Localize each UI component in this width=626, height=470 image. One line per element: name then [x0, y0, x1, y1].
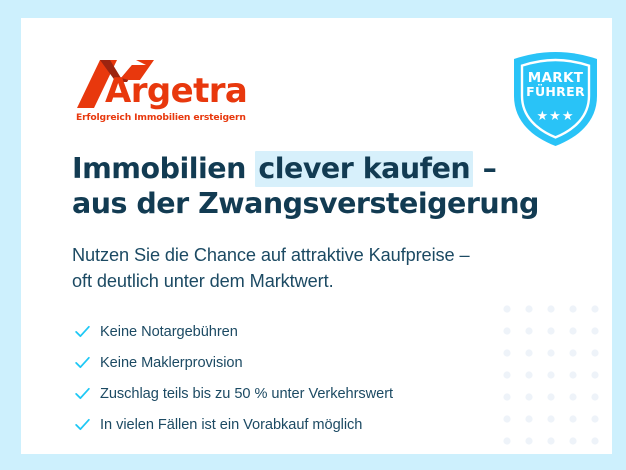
headline-highlight: clever kaufen [255, 151, 473, 187]
check-icon [74, 354, 100, 371]
list-item-label: In vielen Fällen ist ein Vorabkauf mögli… [100, 417, 362, 433]
promo-banner: Argetra Erfolgreich Immobilien ersteiger… [0, 0, 626, 470]
headline-line-1: Immobilien clever kaufen – [72, 151, 592, 186]
banner-card: Argetra Erfolgreich Immobilien ersteiger… [21, 18, 612, 454]
headline-text-after: – [473, 152, 496, 185]
list-item-label: Zuschlag teils bis zu 50 % unter Verkehr… [100, 386, 393, 402]
check-icon [74, 385, 100, 402]
logo-wordmark: Argetra [105, 74, 247, 108]
shield-icon [509, 51, 602, 147]
subheadline: Nutzen Sie die Chance auf attraktive Kau… [72, 242, 572, 294]
subheadline-line-2: oft deutlich unter dem Marktwert. [72, 268, 572, 294]
argetra-logo[interactable]: Argetra Erfolgreich Immobilien ersteiger… [74, 58, 254, 128]
page-title: Immobilien clever kaufen – aus der Zwang… [72, 151, 592, 221]
headline-text-before: Immobilien [72, 152, 255, 185]
list-item-label: Keine Notargebühren [100, 324, 238, 340]
list-item: Zuschlag teils bis zu 50 % unter Verkehr… [74, 378, 554, 409]
market-leader-badge: MARKT FÜHRER ★★★ [509, 51, 602, 147]
list-item: Keine Maklerprovision [74, 347, 554, 378]
headline-line-2: aus der Zwangsversteigerung [72, 186, 592, 221]
check-icon [74, 416, 100, 433]
subheadline-line-1: Nutzen Sie die Chance auf attraktive Kau… [72, 242, 572, 268]
benefit-list: Keine NotargebührenKeine Maklerprovision… [74, 316, 554, 440]
list-item-label: Keine Maklerprovision [100, 355, 243, 371]
list-item: In vielen Fällen ist ein Vorabkauf mögli… [74, 409, 554, 440]
logo-tagline: Erfolgreich Immobilien ersteigern [76, 112, 246, 123]
check-icon [74, 323, 100, 340]
list-item: Keine Notargebühren [74, 316, 554, 347]
